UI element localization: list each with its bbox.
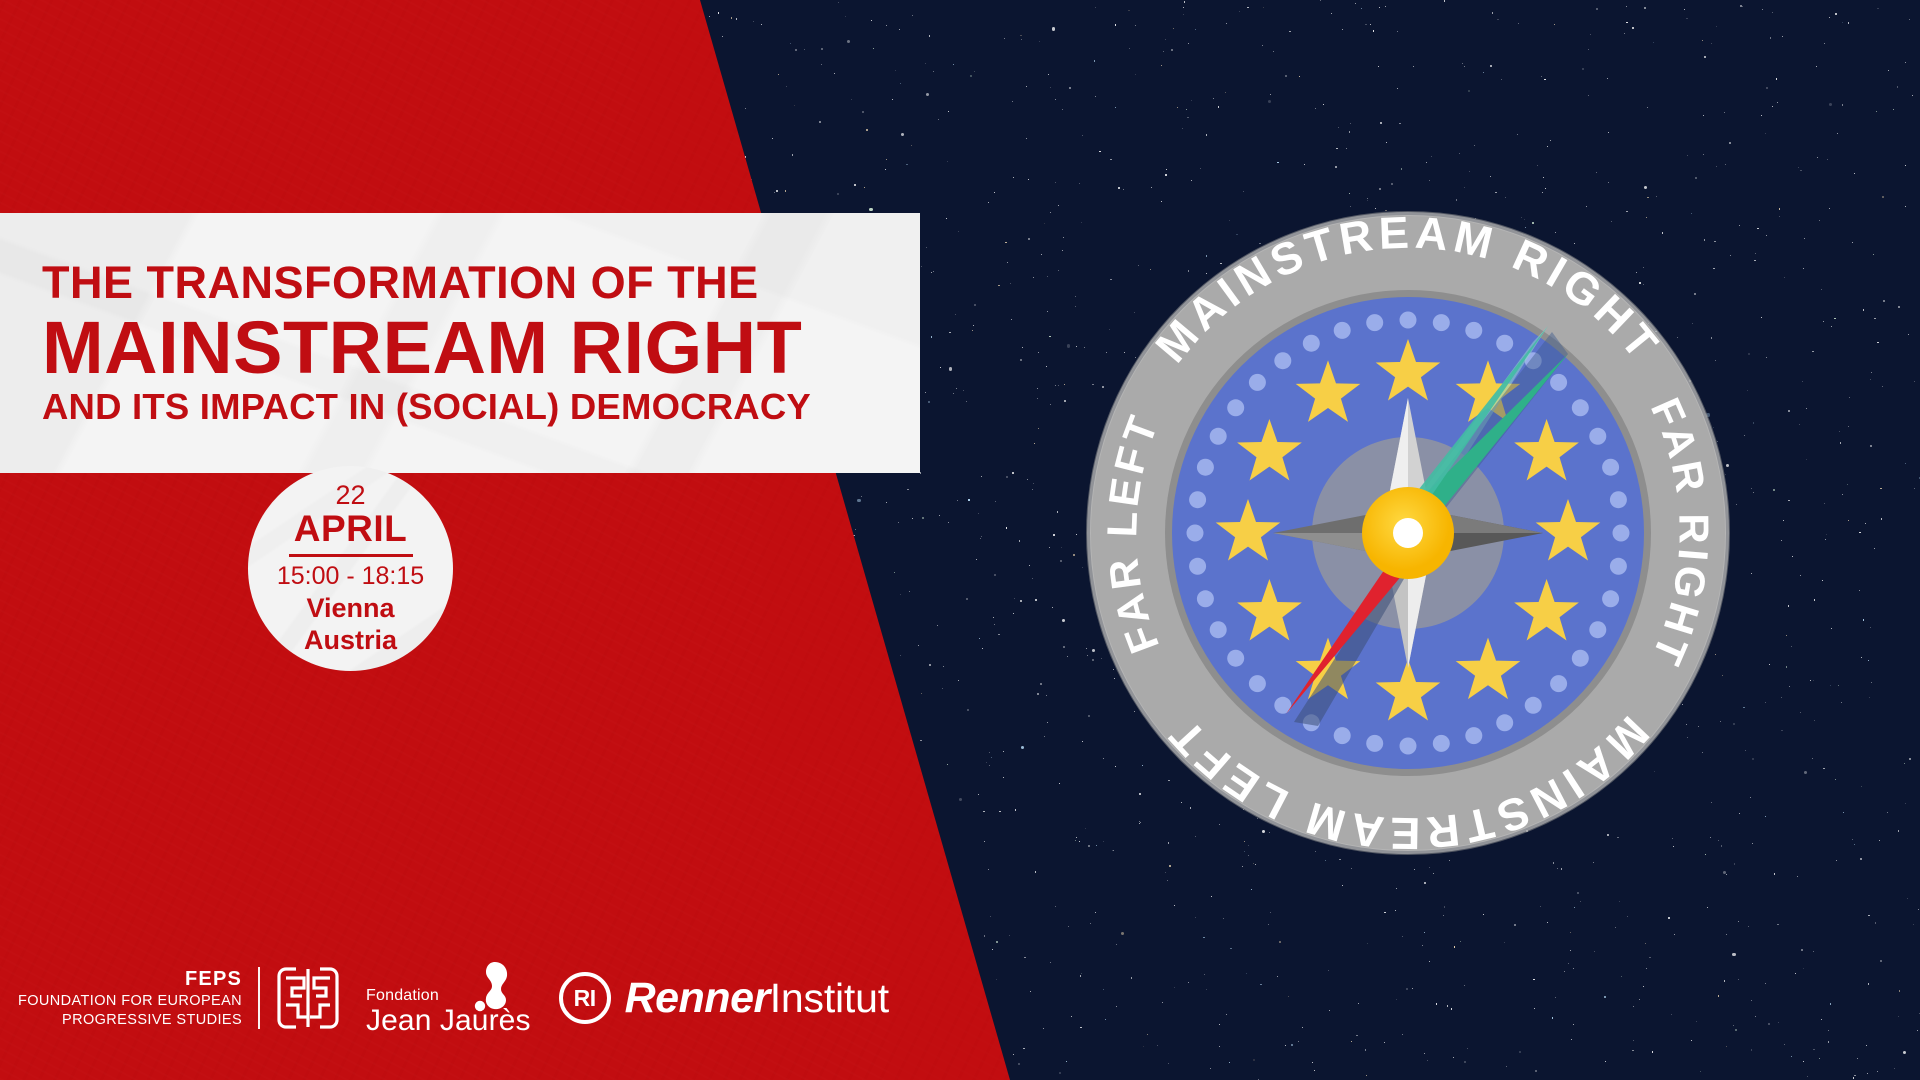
tick-dot [1496, 714, 1513, 731]
feps-emblem-icon [276, 965, 340, 1031]
tick-dot [1334, 727, 1351, 744]
tick-dot [1602, 590, 1619, 607]
jj-silhouette-icon [471, 960, 511, 1020]
title-line-1: THE TRANSFORMATION OF THE [42, 260, 902, 305]
tick-dot [1433, 735, 1450, 752]
renner-suffix: Institut [770, 975, 889, 1022]
tick-dot [1465, 727, 1482, 744]
tick-dot [1610, 558, 1627, 575]
tick-dot [1334, 322, 1351, 339]
event-poster: THE TRANSFORMATION OF THE MAINSTREAM RIG… [0, 0, 1920, 1080]
feps-logo[interactable]: FEPS FOUNDATION FOR EUROPEAN PROGRESSIVE… [18, 965, 340, 1031]
tick-dot [1303, 335, 1320, 352]
tick-dot [1433, 314, 1450, 331]
event-details-badge: 22 APRIL 15:00 - 18:15 Vienna Austria [248, 466, 453, 671]
tick-dot [1189, 491, 1206, 508]
tick-dot [1227, 399, 1244, 416]
title-line-3: AND ITS IMPACT IN (SOCIAL) DEMOCRACY [42, 389, 902, 426]
tick-dot [1525, 697, 1542, 714]
event-city: Vienna [306, 594, 394, 623]
feps-logo-text: FEPS FOUNDATION FOR EUROPEAN PROGRESSIVE… [18, 967, 242, 1028]
event-month: APRIL [294, 510, 408, 547]
tick-dot [1465, 322, 1482, 339]
tick-dot [1550, 374, 1567, 391]
tick-dot [1197, 590, 1214, 607]
tick-dot [1274, 697, 1291, 714]
fondation-jean-jaures-logo[interactable]: Fondation Jean Jaurès [366, 960, 511, 1036]
tick-dot [1602, 459, 1619, 476]
event-day: 22 [335, 482, 365, 509]
tick-dot [1496, 335, 1513, 352]
event-time: 15:00 - 18:15 [277, 563, 424, 591]
tick-dot [1589, 621, 1606, 638]
compass-illustration: MAINSTREAM RIGHT MAINSTREAM LEFT FAR LEF… [1082, 166, 1734, 900]
tick-dot [1227, 650, 1244, 667]
tick-dot [1274, 352, 1291, 369]
tick-dot [1366, 735, 1383, 752]
tick-dot [1249, 675, 1266, 692]
title-card: THE TRANSFORMATION OF THE MAINSTREAM RIG… [0, 213, 920, 473]
tick-dot [1572, 399, 1589, 416]
feps-subtitle-line-2: PROGRESSIVE STUDIES [18, 1011, 242, 1029]
tick-dot [1610, 491, 1627, 508]
feps-subtitle-line-1: FOUNDATION FOR EUROPEAN [18, 992, 242, 1010]
event-country: Austria [304, 626, 397, 655]
feps-name: FEPS [18, 967, 242, 992]
tick-dot [1572, 650, 1589, 667]
tick-dot [1400, 738, 1417, 755]
tick-dot [1210, 621, 1227, 638]
renner-name: Renner [625, 974, 770, 1023]
tick-dot [1249, 374, 1266, 391]
renner-badge-icon: RI [559, 972, 611, 1024]
logo-divider [258, 967, 260, 1029]
tick-dot [1589, 428, 1606, 445]
partner-logo-row: FEPS FOUNDATION FOR EUROPEAN PROGRESSIVE… [18, 955, 889, 1041]
tick-dot [1189, 558, 1206, 575]
needle-hub-center [1393, 518, 1423, 548]
tick-dot [1187, 525, 1204, 542]
title-line-2: MAINSTREAM RIGHT [42, 311, 902, 385]
tick-dot [1613, 525, 1630, 542]
tick-dot [1400, 312, 1417, 329]
tick-dot [1366, 314, 1383, 331]
renner-institut-logo[interactable]: RI Renner Institut [559, 972, 889, 1024]
divider [289, 554, 413, 557]
tick-dot [1197, 459, 1214, 476]
tick-dot [1550, 675, 1567, 692]
tick-dot [1210, 428, 1227, 445]
